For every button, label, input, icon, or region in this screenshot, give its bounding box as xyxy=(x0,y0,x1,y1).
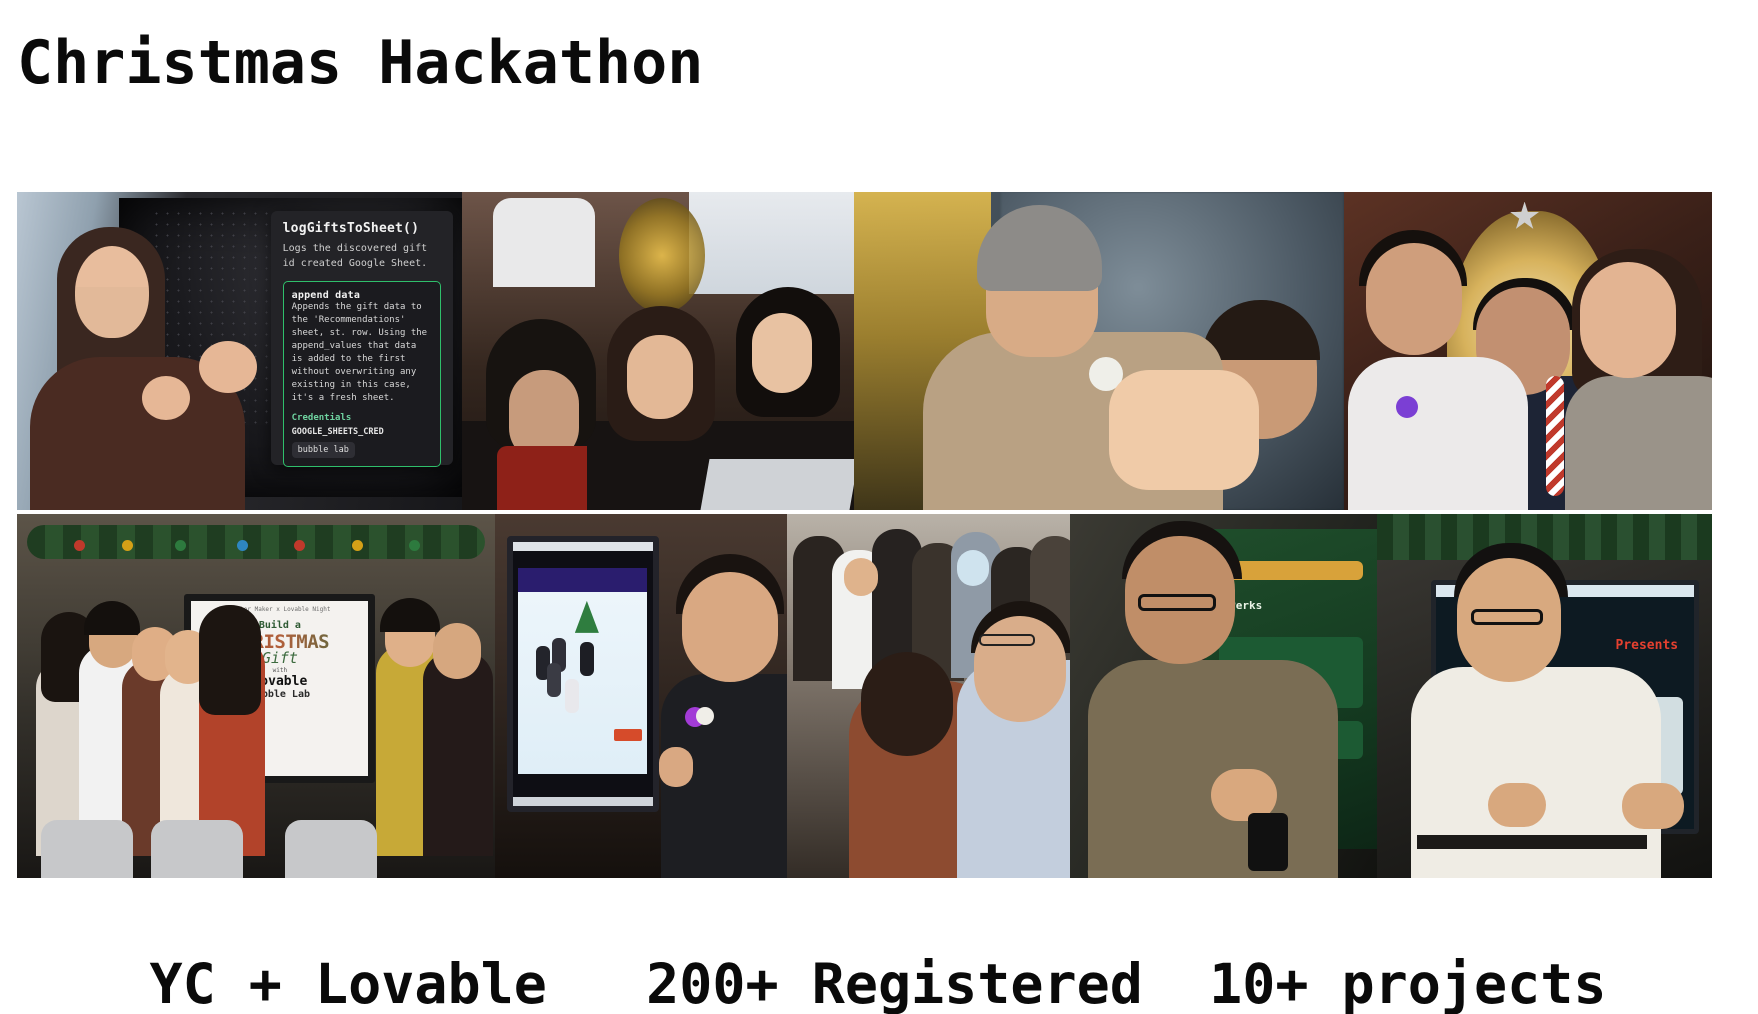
photo-4 xyxy=(1344,192,1712,510)
caption-sep-2 xyxy=(1143,952,1209,1014)
photo-1-screen-credentials-label: Credentials xyxy=(292,413,432,423)
collage-row-bottom: Mentor Maker x Lovable Night Build a CHR… xyxy=(17,514,1712,878)
photo-1-screen-node-body: Appends the gift data to the 'Recommenda… xyxy=(292,301,432,405)
caption-sep-1 xyxy=(547,952,646,1014)
photo-1: logGiftsToSheet() Logs the discovered gi… xyxy=(17,192,462,510)
photo-5: Mentor Maker x Lovable Night Build a CHR… xyxy=(17,514,495,878)
stat-registered: 200+ Registered xyxy=(646,952,1143,1014)
photo-1-screen-node-title: append data xyxy=(292,290,432,301)
photo-9: Presents xyxy=(1377,514,1712,878)
photo-1-screen-description: Logs the discovered gift id created Goog… xyxy=(283,242,441,271)
photo-collage: logGiftsToSheet() Logs the discovered gi… xyxy=(17,192,1712,878)
collage-row-top: logGiftsToSheet() Logs the discovered gi… xyxy=(17,192,1712,510)
photo-9-screen-heading: Presents xyxy=(1616,638,1679,653)
photo-1-screen-function-title: logGiftsToSheet() xyxy=(283,221,441,236)
stat-projects: 10+ projects xyxy=(1209,952,1606,1014)
photo-2 xyxy=(462,192,854,510)
slide-root: Christmas Hackathon logGiftsToSheet() Lo… xyxy=(0,0,1758,1014)
photo-1-screen-credential-key: GOOGLE_SHEETS_CRED xyxy=(292,427,432,437)
photo-8: Perks xyxy=(1070,514,1377,878)
photo-6 xyxy=(495,514,787,878)
stat-partners: YC + Lovable xyxy=(149,952,546,1014)
page-title: Christmas Hackathon xyxy=(17,30,703,96)
photo-3 xyxy=(854,192,1344,510)
stats-caption: YC + Lovable 200+ Registered 10+ project… xyxy=(17,898,1741,1014)
photo-7 xyxy=(787,514,1070,878)
photo-1-screen-credential-value: bubble lab xyxy=(292,442,355,458)
